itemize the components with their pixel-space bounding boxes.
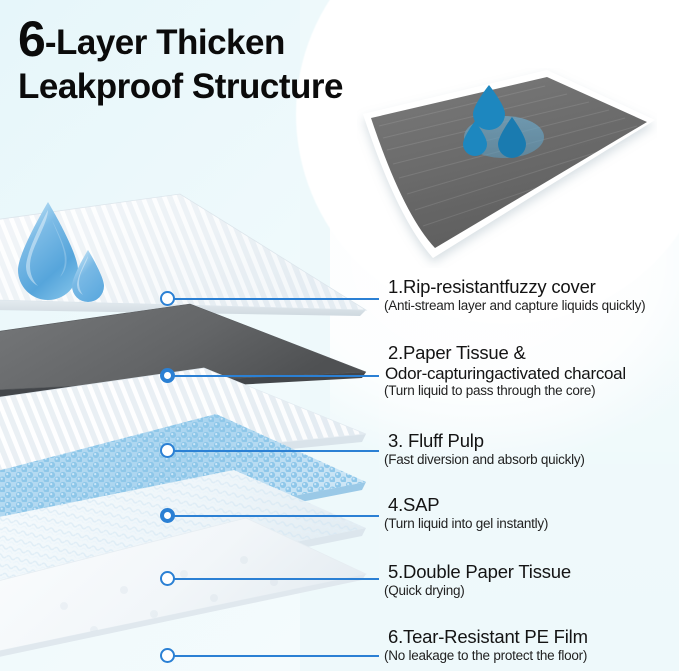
label-1-title: 1.Rip-resistantfuzzy cover	[388, 277, 678, 298]
label-block-4: 4.SAP (Turn liquid into gel instantly)	[388, 495, 678, 532]
title-line-2: Leakproof Structure	[18, 68, 438, 106]
page-title: 6-Layer Thicken Leakproof Structure	[18, 12, 438, 106]
label-6-subtitle: (No leakage to the protect the floor)	[384, 648, 678, 664]
label-block-5: 5.Double Paper Tissue (Quick drying)	[388, 562, 678, 599]
label-2-title: 2.Paper Tissue &	[388, 343, 678, 364]
label-3-title: 3. Fluff Pulp	[388, 431, 678, 452]
label-2-subtitle: (Turn liquid to pass through the core)	[384, 383, 678, 399]
label-5-subtitle: (Quick drying)	[384, 583, 678, 599]
label-4-title: 4.SAP	[388, 495, 678, 516]
title-line-2-text: Leakproof Structure	[18, 67, 343, 106]
label-block-6: 6.Tear-Resistant PE Film (No leakage to …	[388, 627, 678, 664]
label-6-title: 6.Tear-Resistant PE Film	[388, 627, 678, 648]
infographic-root: 6-Layer Thicken Leakproof Structure	[0, 0, 679, 671]
label-block-2: 2.Paper Tissue & Odor-capturingactivated…	[388, 343, 678, 399]
label-block-3: 3. Fluff Pulp (Fast diversion and absorb…	[388, 431, 678, 468]
title-number: 6	[18, 11, 45, 67]
title-line-1-rest: -Layer Thicken	[45, 23, 285, 62]
label-1-subtitle: (Anti-stream layer and capture liquids q…	[384, 298, 678, 314]
label-2-title-line-2: Odor-capturingactivated charcoal	[385, 364, 678, 383]
label-3-subtitle: (Fast diversion and absorb quickly)	[384, 452, 678, 468]
label-5-title: 5.Double Paper Tissue	[388, 562, 678, 583]
label-block-1: 1.Rip-resistantfuzzy cover (Anti-stream …	[388, 277, 678, 314]
title-line-1: 6-Layer Thicken	[18, 12, 438, 66]
label-4-subtitle: (Turn liquid into gel instantly)	[384, 516, 678, 532]
